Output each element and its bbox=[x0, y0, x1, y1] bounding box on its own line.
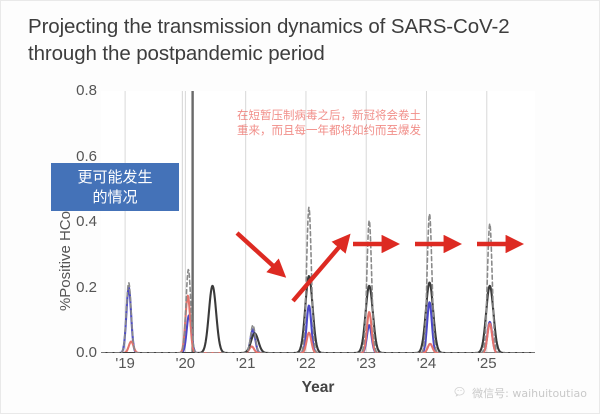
y-tick-0: 0.0 bbox=[63, 344, 97, 361]
series-curve bbox=[101, 296, 535, 353]
y-tick-2: 0.4 bbox=[63, 213, 97, 230]
watermark-label: 微信号: waihuitoutiao bbox=[472, 385, 587, 401]
y-tick-3: 0.6 bbox=[63, 148, 97, 165]
x-tick-6: '25 bbox=[477, 355, 497, 372]
series-curve bbox=[101, 207, 535, 353]
x-tick-1: '20 bbox=[176, 355, 196, 372]
x-tick-4: '23 bbox=[356, 355, 376, 372]
page-title: Projecting the transmission dynamics of … bbox=[28, 13, 548, 67]
x-axis-ticks: '19 '20 '21 '22 '23 '24 '25 bbox=[101, 355, 535, 377]
series-curve bbox=[101, 288, 535, 353]
y-tick-1: 0.2 bbox=[63, 279, 97, 296]
watermark: 微信号: waihuitoutiao bbox=[454, 385, 587, 401]
wechat-icon bbox=[454, 386, 468, 400]
y-tick-4: 0.8 bbox=[63, 82, 97, 99]
slide-root: Projecting the transmission dynamics of … bbox=[0, 0, 600, 414]
x-tick-3: '22 bbox=[296, 355, 316, 372]
x-tick-0: '19 bbox=[115, 355, 135, 372]
callout-line-2: 的情况 bbox=[92, 187, 137, 207]
callout-line-1: 更可能发生 bbox=[77, 167, 152, 187]
x-tick-2: '21 bbox=[236, 355, 256, 372]
callout-box: 更可能发生 的情况 bbox=[51, 163, 179, 211]
annotation-text: 在短暂压制病毒之后，新冠将会卷土 重来，而且每一年都将如约而至爆发 bbox=[237, 108, 429, 138]
y-axis-ticks: 0.0 0.2 0.4 0.6 0.8 bbox=[63, 91, 97, 353]
x-tick-5: '24 bbox=[417, 355, 437, 372]
series-curve bbox=[101, 276, 535, 353]
